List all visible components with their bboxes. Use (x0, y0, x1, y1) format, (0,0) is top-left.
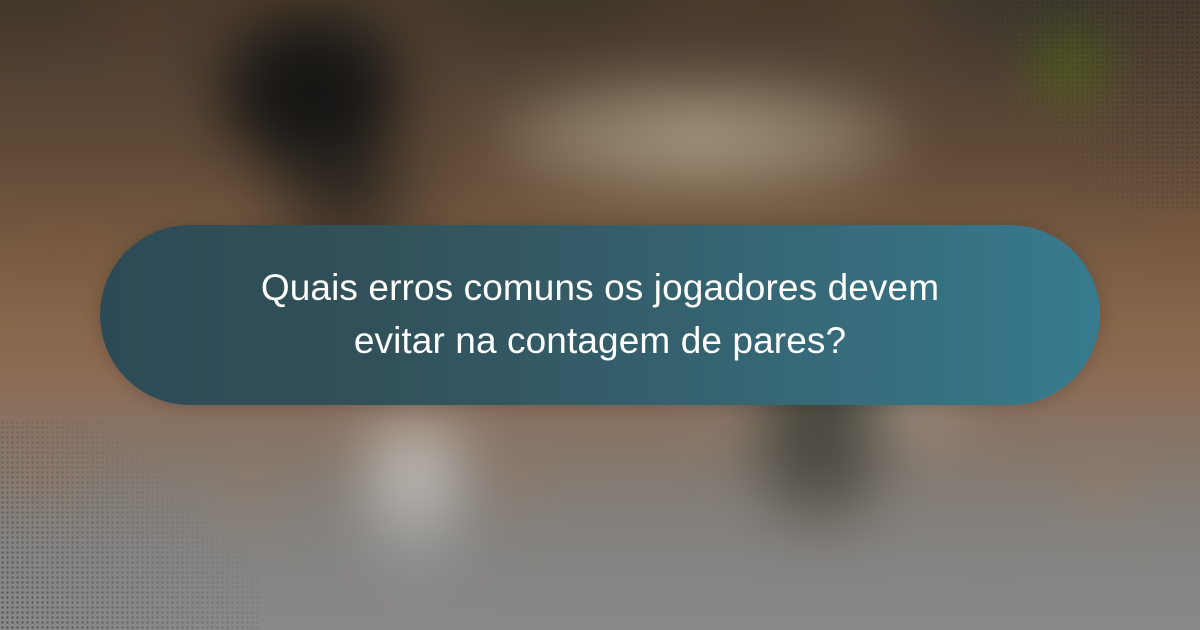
social-share-card: Quais erros comuns os jogadores devem ev… (0, 0, 1200, 630)
headline-pill: Quais erros comuns os jogadores devem ev… (100, 225, 1100, 405)
headline-text: Quais erros comuns os jogadores devem ev… (220, 262, 980, 367)
